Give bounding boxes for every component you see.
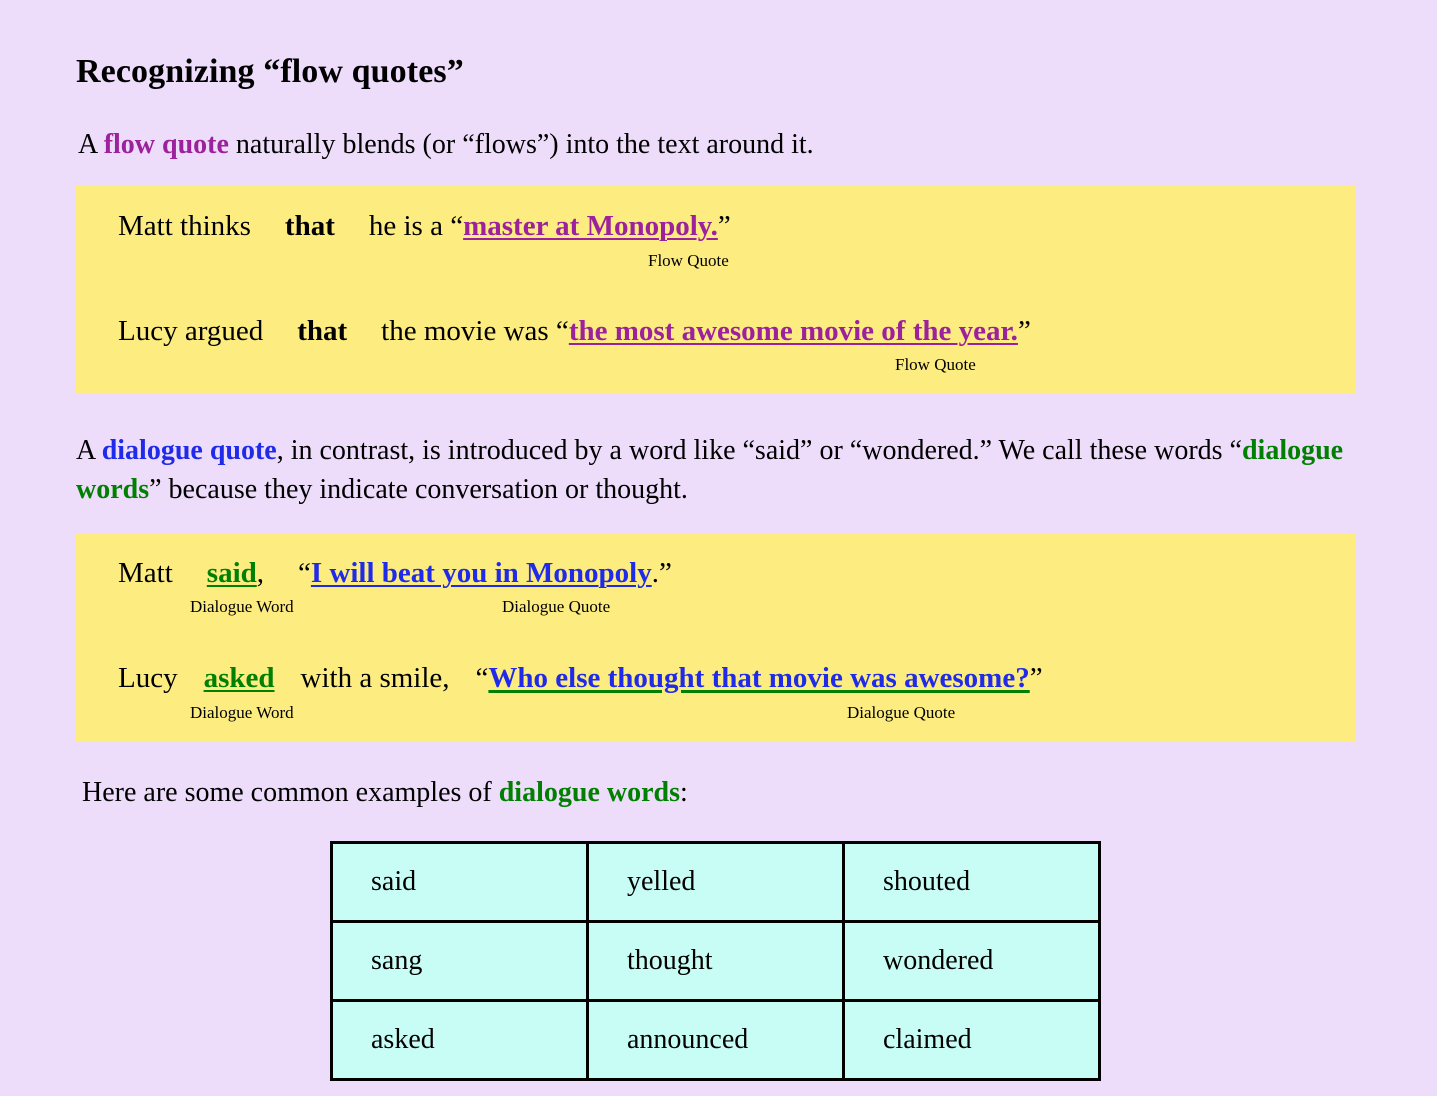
page-title: Recognizing “flow quotes” xyxy=(76,52,464,93)
flow-ex2-quote: the most awesome movie of the year. xyxy=(569,315,1018,347)
dialogue-words-table: said yelled shouted sang thought wondere… xyxy=(330,841,1101,1081)
dialogue-example-1: Mattsaid,“I will beat you in Monopoly.” xyxy=(118,559,672,588)
dlg-ex1-open-quote: “ xyxy=(298,557,311,589)
table-cell: yelled xyxy=(588,843,844,922)
table-cell: asked xyxy=(332,1001,588,1080)
dialogue-quote-keyword: dialogue quote xyxy=(102,435,277,466)
flow-quote-definition: A flow quote naturally blends (or “flows… xyxy=(78,126,1378,165)
table-cell: claimed xyxy=(844,1001,1100,1080)
table-row: sang thought wondered xyxy=(332,922,1100,1001)
caption-dialogue-quote-2: Dialogue Quote xyxy=(847,704,955,721)
dialogue-def-seg2: , in contrast, is introduced by a word l… xyxy=(277,435,1242,466)
flow-ex1-connector: that xyxy=(285,212,335,241)
flow-ex1-subject: Matt thinks xyxy=(118,212,251,241)
worksheet-page: Recognizing “flow quotes” A flow quote n… xyxy=(0,0,1437,1096)
flow-ex2-leadin: the movie was “ xyxy=(381,317,569,346)
table-cell: announced xyxy=(588,1001,844,1080)
dialogue-quote-definition: A dialogue quote, in contrast, is introd… xyxy=(76,432,1366,509)
dlg-ex1-close: .” xyxy=(652,557,672,589)
dlg-ex2-open-quote: “ xyxy=(476,662,489,694)
flow-ex1-quote: master at Monopoly. xyxy=(463,210,718,242)
dialogue-def-seg3: ” because they indicate conversation or … xyxy=(149,474,688,505)
table-cell: said xyxy=(332,843,588,922)
dlg-ex2-close: ” xyxy=(1030,662,1043,694)
table-cell: thought xyxy=(588,922,844,1001)
dlg-ex2-subject: Lucy xyxy=(118,664,178,693)
table-cell: shouted xyxy=(844,843,1100,922)
flow-ex1-close: ” xyxy=(718,210,731,242)
caption-flow-quote-1: Flow Quote xyxy=(648,252,729,269)
dlg-ex1-after-word: , xyxy=(257,557,264,589)
examples-lead-keyword: dialogue words xyxy=(499,777,680,808)
examples-lead-after: : xyxy=(680,777,688,808)
dlg-ex1-quote: I will beat you in Monopoly xyxy=(311,557,652,589)
caption-flow-quote-2: Flow Quote xyxy=(895,356,976,373)
flow-ex1-leadin: he is a “ xyxy=(369,212,463,241)
table-cell: sang xyxy=(332,922,588,1001)
dlg-ex1-dialogue-word: said xyxy=(207,557,257,589)
flow-def-after: naturally blends (or “flows”) into the t… xyxy=(229,129,814,160)
dialogue-words-examples-lead: Here are some common examples of dialogu… xyxy=(82,774,1282,813)
dialogue-example-2: Lucyaskedwith a smile,“Who else thought … xyxy=(118,664,1043,693)
table-row: said yelled shouted xyxy=(332,843,1100,922)
dlg-ex1-subject: Matt xyxy=(118,559,173,588)
dialogue-def-seg1: A xyxy=(76,435,102,466)
dlg-ex2-quote: Who else thought that movie was awesome? xyxy=(488,662,1029,694)
flow-quote-example-box: Matt thinksthathe is a “master at Monopo… xyxy=(76,186,1356,394)
caption-dialogue-word-1: Dialogue Word xyxy=(190,598,294,615)
dlg-ex2-dialogue-word: asked xyxy=(204,662,275,694)
flow-ex2-close: ” xyxy=(1018,315,1031,347)
caption-dialogue-quote-1: Dialogue Quote xyxy=(502,598,610,615)
flow-ex2-subject: Lucy argued xyxy=(118,317,263,346)
caption-dialogue-word-2: Dialogue Word xyxy=(190,704,294,721)
table-row: asked announced claimed xyxy=(332,1001,1100,1080)
flow-def-before: A xyxy=(78,129,104,160)
table-cell: wondered xyxy=(844,922,1100,1001)
flow-ex2-connector: that xyxy=(297,317,347,346)
dlg-ex2-middle: with a smile, xyxy=(301,664,450,693)
examples-lead-before: Here are some common examples of xyxy=(82,777,499,808)
flow-example-2: Lucy arguedthatthe movie was “the most a… xyxy=(118,317,1031,346)
flow-example-1: Matt thinksthathe is a “master at Monopo… xyxy=(118,212,731,241)
flow-quote-keyword: flow quote xyxy=(104,129,229,160)
